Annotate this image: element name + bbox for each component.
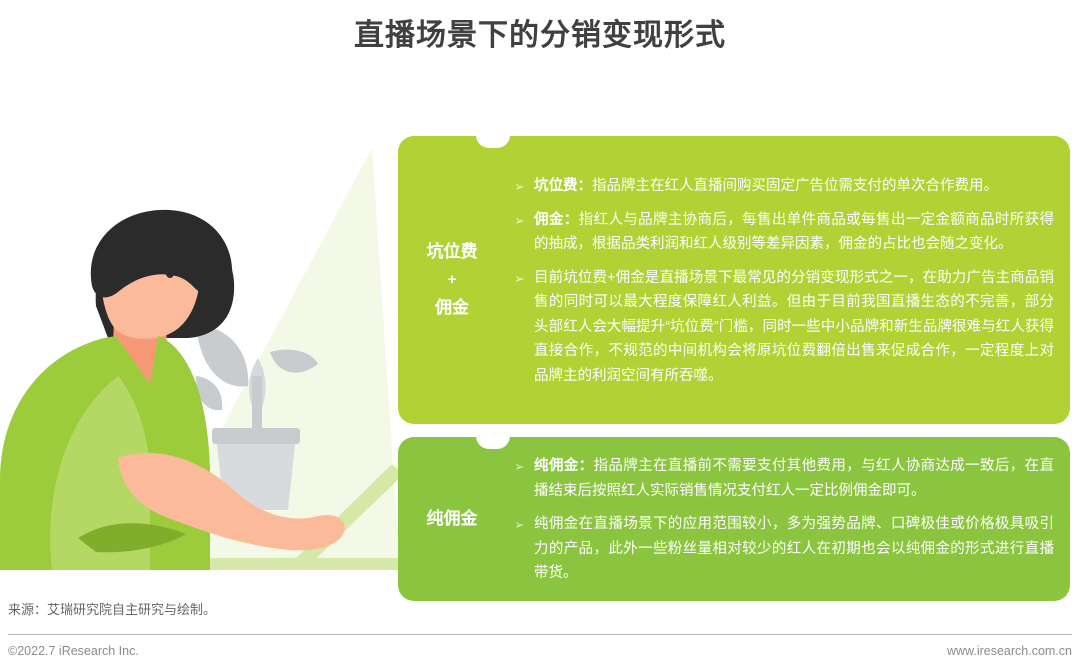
footer-divider [8, 634, 1072, 635]
source-note: 来源：艾瑞研究院自主研究与绘制。 [8, 600, 216, 620]
bullet-lead: 纯佣金： [534, 458, 593, 474]
person-typing-illustration [0, 140, 420, 570]
bullet-item: ➢ 佣金：指红人与品牌主协商后，每售出单件商品或每售出一定金额商品时所获得的抽成… [514, 208, 1054, 257]
bullet-text: 坑位费：指品牌主在红人直播间购买固定广告位需支付的单次合作费用。 [534, 174, 1054, 199]
bullet-body: 纯佣金在直播场景下的应用范围较小，多为强势品牌、口碑极佳或价格极具吸引力的产品，… [534, 516, 1054, 581]
panel-label-line-1: 坑位费 [427, 237, 478, 267]
panel-body-pure-commission: ➢ 纯佣金：指品牌主在直播前不需要支付其他费用，与红人协商达成一致后，在直播结束… [500, 437, 1070, 601]
bullet-text: 佣金：指红人与品牌主协商后，每售出单件商品或每售出一定金额商品时所获得的抽成，根… [534, 208, 1054, 257]
eye-shape [165, 262, 175, 278]
bullet-lead: 佣金： [534, 212, 579, 228]
panel-label-plus-sign: + [448, 267, 457, 293]
person-shape [0, 210, 345, 570]
bullet-text: 目前坑位费+佣金是直播场景下最常见的分销变现形式之一，在助力广告主商品销售的同时… [534, 266, 1054, 389]
arrow-bullet-icon: ➢ [514, 454, 534, 479]
footer-copyright: ©2022.7 iResearch Inc. [8, 641, 139, 661]
arrow-bullet-icon: ➢ [514, 174, 534, 199]
bullet-body: 指品牌主在红人直播间购买固定广告位需支付的单次合作费用。 [592, 178, 998, 194]
bullet-item: ➢ 纯佣金：指品牌主在直播前不需要支付其他费用，与红人协商达成一致后，在直播结束… [514, 454, 1054, 503]
bullet-item: ➢ 坑位费：指品牌主在红人直播间购买固定广告位需支付的单次合作费用。 [514, 174, 1054, 199]
panel-label-pit-fee-plus-commission: 坑位费 + 佣金 [404, 136, 500, 424]
panel-label-line-1: 纯佣金 [427, 504, 478, 534]
panel-pit-fee-plus-commission: 坑位费 + 佣金 ➢ 坑位费：指品牌主在红人直播间购买固定广告位需支付的单次合作… [398, 136, 1070, 424]
footer-website: www.iresearch.com.cn [947, 641, 1072, 661]
bullet-item: ➢ 纯佣金在直播场景下的应用范围较小，多为强势品牌、口碑极佳或价格极具吸引力的产… [514, 512, 1054, 586]
panel-body-pit-fee: ➢ 坑位费：指品牌主在红人直播间购买固定广告位需支付的单次合作费用。 ➢ 佣金：… [500, 136, 1070, 424]
bullet-body: 指品牌主在直播前不需要支付其他费用，与红人协商达成一致后，在直播结束后按照红人实… [534, 458, 1054, 499]
arrow-bullet-icon: ➢ [514, 512, 534, 537]
arrow-bullet-icon: ➢ [514, 208, 534, 233]
bullet-text: 纯佣金：指品牌主在直播前不需要支付其他费用，与红人协商达成一致后，在直播结束后按… [534, 454, 1054, 503]
panel-label-pure-commission: 纯佣金 [404, 437, 500, 601]
page-title: 直播场景下的分销变现形式 [0, 14, 1080, 58]
bullet-item: ➢ 目前坑位费+佣金是直播场景下最常见的分销变现形式之一，在助力广告主商品销售的… [514, 266, 1054, 389]
panel-label-line-3: 佣金 [435, 293, 469, 323]
arrow-bullet-icon: ➢ [514, 266, 534, 291]
bullet-body: 指红人与品牌主协商后，每售出单件商品或每售出一定金额商品时所获得的抽成，根据品类… [534, 212, 1054, 253]
panel-pure-commission: 纯佣金 ➢ 纯佣金：指品牌主在直播前不需要支付其他费用，与红人协商达成一致后，在… [398, 437, 1070, 601]
bullet-text: 纯佣金在直播场景下的应用范围较小，多为强势品牌、口碑极佳或价格极具吸引力的产品，… [534, 512, 1054, 586]
bullet-lead: 坑位费： [534, 178, 592, 194]
bullet-body: 目前坑位费+佣金是直播场景下最常见的分销变现形式之一，在助力广告主商品销售的同时… [534, 270, 1054, 384]
